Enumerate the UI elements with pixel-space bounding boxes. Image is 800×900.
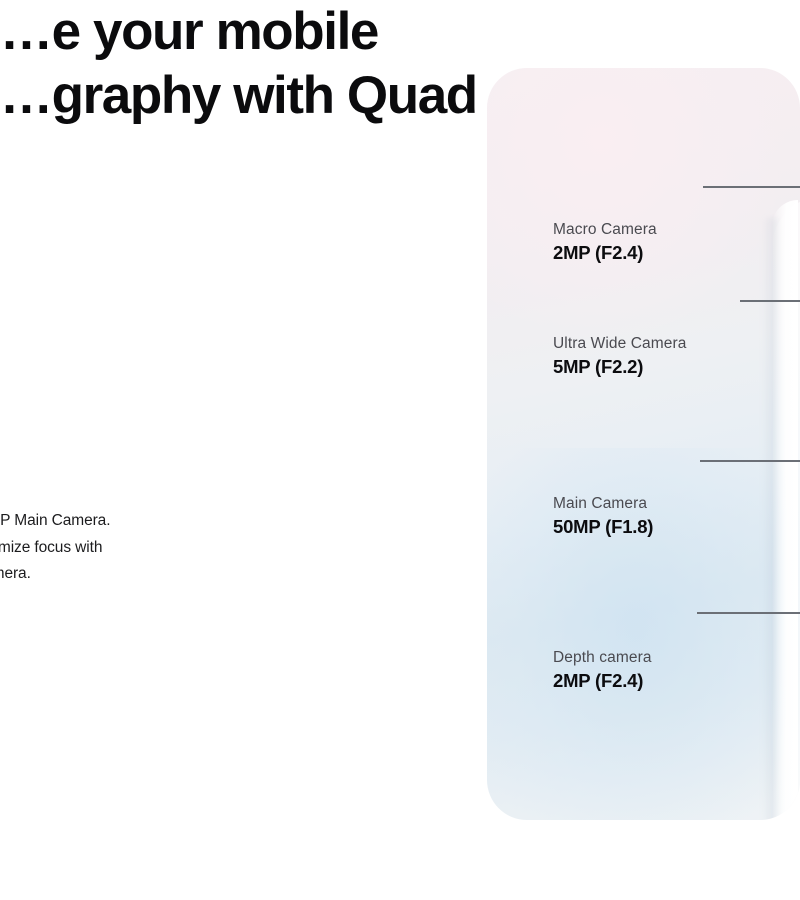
callout-title: Ultra Wide Camera [553,334,800,353]
product-panel: Macro Camera 2MP (F2.4) Ultra Wide Camer… [487,68,800,820]
callout-spec: 5MP (F2.2) [553,356,800,378]
callout-ultra-wide-camera: Ultra Wide Camera 5MP (F2.2) [553,334,800,379]
body-copy: …in clear detail with the 50MP Main Came… [0,508,404,588]
panel-warm-gradient [487,68,787,338]
leader-line-ultrawide [740,300,800,302]
marketing-slide: …e your mobile …graphy with Quad …in cle… [0,0,800,900]
callout-depth-camera: Depth camera 2MP (F2.4) [553,648,800,693]
callout-main-camera: Main Camera 50MP (F1.8) [553,494,800,539]
callout-title: Macro Camera [553,220,800,239]
callout-title: Depth camera [553,648,800,667]
callout-spec: 50MP (F1.8) [553,516,800,538]
leader-line-depth [697,612,800,614]
leader-line-main [700,460,800,462]
callout-spec: 2MP (F2.4) [553,670,800,692]
leader-line-macro [703,186,800,188]
callout-spec: 2MP (F2.4) [553,242,800,264]
callout-title: Main Camera [553,494,800,513]
callout-macro-camera: Macro Camera 2MP (F2.4) [553,220,800,265]
